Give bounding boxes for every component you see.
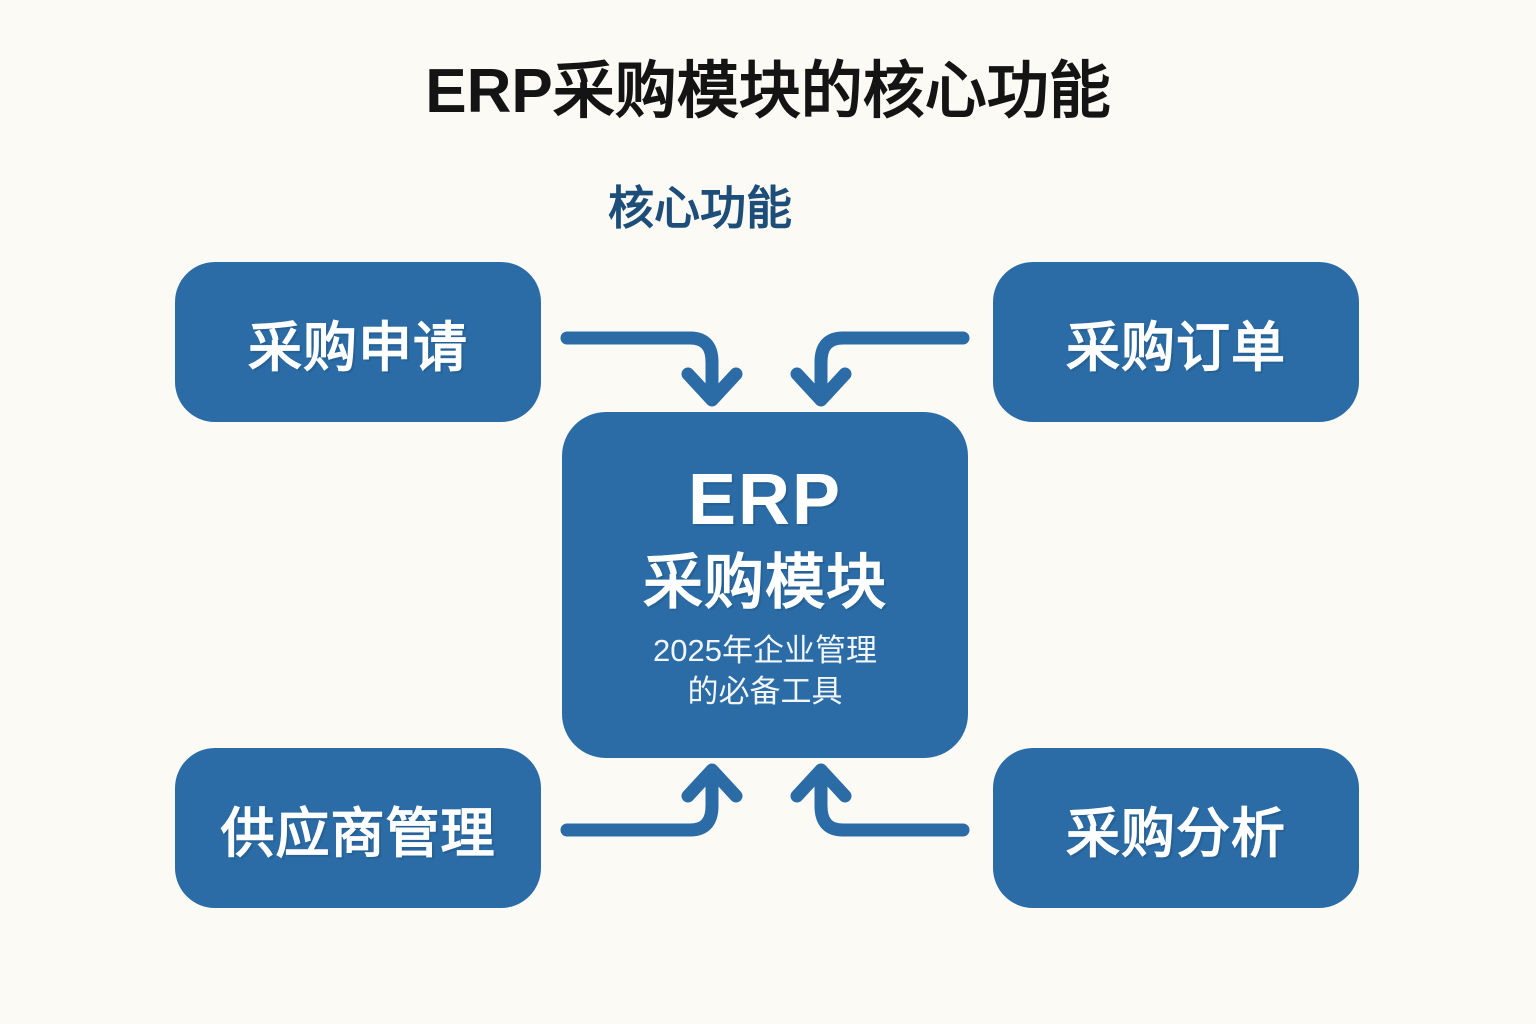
node-label: 采购分析 [1066, 789, 1286, 868]
node-purchase-order[interactable]: 采购订单 [993, 262, 1359, 422]
node-purchase-analysis[interactable]: 采购分析 [993, 748, 1359, 908]
arrow-top-left [567, 338, 736, 400]
diagram-canvas: ERP采购模块的核心功能 核心功能 [0, 0, 1536, 1024]
hub-note: 2025年企业管理 的必备工具 [653, 631, 877, 712]
arrow-top-right [797, 338, 963, 400]
central-hub-erp-procurement-module[interactable]: ERP 采购模块 2025年企业管理 的必备工具 [562, 412, 968, 758]
hub-note-line-2: 的必备工具 [653, 672, 877, 712]
node-label: 采购申请 [248, 303, 468, 382]
node-supplier-management[interactable]: 供应商管理 [175, 748, 541, 908]
node-label: 供应商管理 [221, 789, 496, 868]
node-label: 采购订单 [1066, 303, 1286, 382]
hub-note-line-1: 2025年企业管理 [653, 631, 877, 671]
page-subtitle: 核心功能 [0, 182, 1400, 235]
arrow-bottom-left [567, 770, 736, 830]
hub-title-erp: ERP [688, 464, 842, 536]
hub-title-module: 采购模块 [643, 548, 887, 617]
node-purchase-requisition[interactable]: 采购申请 [175, 262, 541, 422]
page-title: ERP采购模块的核心功能 [0, 58, 1536, 126]
arrow-bottom-right [797, 770, 963, 830]
